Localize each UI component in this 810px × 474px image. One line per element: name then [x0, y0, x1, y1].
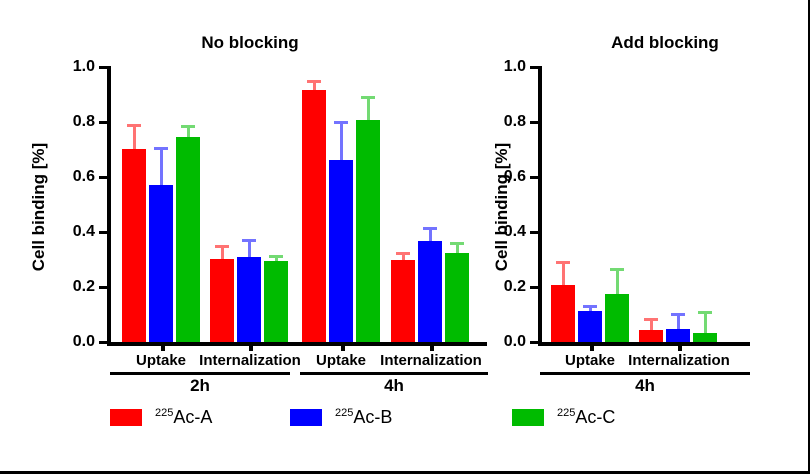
errorbar-cap-2-2	[361, 96, 375, 99]
y-tick-4	[99, 121, 107, 124]
errorbar-stem-0-2	[187, 128, 190, 137]
figure-canvas: No blocking Cell binding [%] 0.0 0.2 0.4…	[0, 0, 810, 474]
y-tick-label-3: 0.6	[49, 168, 95, 186]
errorbar-cap-0-0	[556, 261, 570, 264]
y-tick-1	[99, 286, 107, 289]
y-axis-label-right: Cell binding [%]	[492, 122, 512, 292]
bar-225AcB-1	[237, 257, 261, 342]
errorbar-cap-0-2	[610, 268, 624, 271]
bar-225AcB-0	[578, 311, 602, 343]
plot-area-right	[540, 68, 750, 342]
errorbar-stem-1-0	[650, 321, 653, 329]
y-tick-label-right-4: 0.8	[480, 113, 526, 131]
errorbar-stem-3-0	[402, 255, 405, 260]
errorbar-stem-1-1	[677, 316, 680, 329]
x-tick-left-3	[430, 342, 434, 351]
bar-225AcC-0	[176, 137, 200, 342]
errorbar-stem-2-0	[313, 83, 316, 91]
y-tick-right-4	[530, 121, 538, 124]
bar-225AcC-1	[264, 261, 288, 342]
group-label-blocking-4h: 4h	[540, 376, 750, 396]
y-tick-label-4: 0.8	[49, 113, 95, 131]
legend-item-ac225-b[interactable]: 225Ac-B	[290, 408, 392, 426]
errorbar-stem-1-0	[221, 248, 224, 259]
y-tick-label-right-2: 0.4	[480, 223, 526, 241]
y-tick-label-0: 0.0	[49, 333, 95, 351]
y-tick-label-right-5: 1.0	[480, 58, 526, 76]
errorbar-stem-1-2	[275, 258, 278, 262]
bar-225AcC-3	[445, 253, 469, 342]
group-underline-4h	[300, 372, 488, 375]
bar-225AcA-1	[639, 330, 663, 342]
legend-label-ac225-b: 225Ac-B	[335, 408, 392, 426]
bar-225AcA-0	[122, 149, 146, 342]
y-tick-right-1	[530, 286, 538, 289]
errorbar-stem-2-2	[367, 99, 370, 120]
y-tick-label-right-0: 0.0	[480, 333, 526, 351]
bar-225AcA-0	[551, 285, 575, 342]
errorbar-stem-0-2	[616, 271, 619, 294]
y-tick-0	[99, 341, 107, 344]
legend-isotope-a: 225	[155, 407, 173, 419]
x-axis-line-right	[538, 342, 750, 346]
errorbar-stem-3-2	[456, 245, 459, 253]
x-tick-left-0	[161, 342, 165, 351]
x-tick-right-1	[678, 342, 682, 351]
errorbar-cap-0-1	[154, 147, 168, 150]
bar-225AcB-1	[666, 329, 690, 342]
x-tick-left-1	[249, 342, 253, 351]
errorbar-cap-0-2	[181, 125, 195, 128]
x-tick-right-0	[590, 342, 594, 351]
y-tick-3	[99, 176, 107, 179]
group-label-2h: 2h	[110, 376, 290, 396]
errorbar-stem-2-1	[340, 124, 343, 160]
legend-name-a: Ac-A	[173, 407, 212, 427]
legend-label-ac225-a: 225Ac-A	[155, 408, 212, 426]
legend-item-ac225-c[interactable]: 225Ac-C	[512, 408, 615, 426]
legend-isotope-b: 225	[335, 407, 353, 419]
y-tick-label-1: 0.2	[49, 278, 95, 296]
errorbar-cap-3-1	[423, 227, 437, 230]
errorbar-cap-2-1	[334, 121, 348, 124]
y-tick-label-right-1: 0.2	[480, 278, 526, 296]
bar-225AcB-0	[149, 185, 173, 342]
errorbar-cap-1-0	[644, 318, 658, 321]
errorbar-cap-0-1	[583, 305, 597, 308]
y-tick-label-5: 1.0	[49, 58, 95, 76]
bar-225AcC-0	[605, 294, 629, 342]
bar-225AcA-1	[210, 259, 234, 342]
y-tick-5	[99, 66, 107, 69]
legend-swatch-ac225-c	[512, 409, 544, 426]
legend-isotope-c: 225	[557, 407, 575, 419]
bar-225AcC-1	[693, 333, 717, 342]
bar-225AcC-2	[356, 120, 380, 342]
errorbar-stem-1-1	[248, 242, 251, 257]
errorbar-cap-1-2	[269, 255, 283, 258]
group-underline-blocking-4h	[540, 372, 750, 375]
y-axis-label-left: Cell binding [%]	[29, 122, 49, 292]
legend-name-c: Ac-C	[575, 407, 615, 427]
panel-add-blocking: Add blocking Cell binding [%] 0.0 0.2 0.…	[480, 0, 810, 400]
y-tick-2	[99, 231, 107, 234]
errorbar-cap-0-0	[127, 124, 141, 127]
panel-title-add-blocking: Add blocking	[555, 33, 775, 53]
bar-225AcA-3	[391, 260, 415, 342]
x-category-label-blocking-internalization: Internalization	[609, 352, 749, 369]
errorbar-stem-0-0	[562, 264, 565, 285]
plot-area-left	[109, 68, 487, 342]
errorbar-cap-1-1	[242, 239, 256, 242]
y-tick-right-3	[530, 176, 538, 179]
bar-225AcA-2	[302, 90, 326, 342]
bar-225AcB-3	[418, 241, 442, 342]
y-tick-right-5	[530, 66, 538, 69]
errorbar-cap-1-2	[698, 311, 712, 314]
errorbar-stem-0-0	[133, 127, 136, 148]
bar-225AcB-2	[329, 160, 353, 342]
errorbar-stem-0-1	[589, 308, 592, 311]
errorbar-cap-1-1	[671, 313, 685, 316]
panel-no-blocking: No blocking Cell binding [%] 0.0 0.2 0.4…	[0, 0, 500, 400]
group-underline-2h	[110, 372, 290, 375]
errorbar-cap-3-0	[396, 252, 410, 255]
panel-title-no-blocking: No blocking	[130, 33, 370, 53]
x-tick-left-2	[341, 342, 345, 351]
y-tick-right-2	[530, 231, 538, 234]
legend-item-ac225-a[interactable]: 225Ac-A	[110, 408, 212, 426]
errorbar-cap-3-2	[450, 242, 464, 245]
legend-name-b: Ac-B	[353, 407, 392, 427]
errorbar-stem-1-2	[704, 314, 707, 333]
errorbar-cap-1-0	[215, 245, 229, 248]
errorbar-stem-3-1	[429, 230, 432, 240]
y-tick-label-right-3: 0.6	[480, 168, 526, 186]
legend-label-ac225-c: 225Ac-C	[557, 408, 615, 426]
y-tick-label-2: 0.4	[49, 223, 95, 241]
group-label-4h: 4h	[300, 376, 488, 396]
errorbar-stem-0-1	[160, 150, 163, 185]
errorbar-cap-2-0	[307, 80, 321, 83]
legend-swatch-ac225-a	[110, 409, 142, 426]
y-tick-right-0	[530, 341, 538, 344]
legend-swatch-ac225-b	[290, 409, 322, 426]
